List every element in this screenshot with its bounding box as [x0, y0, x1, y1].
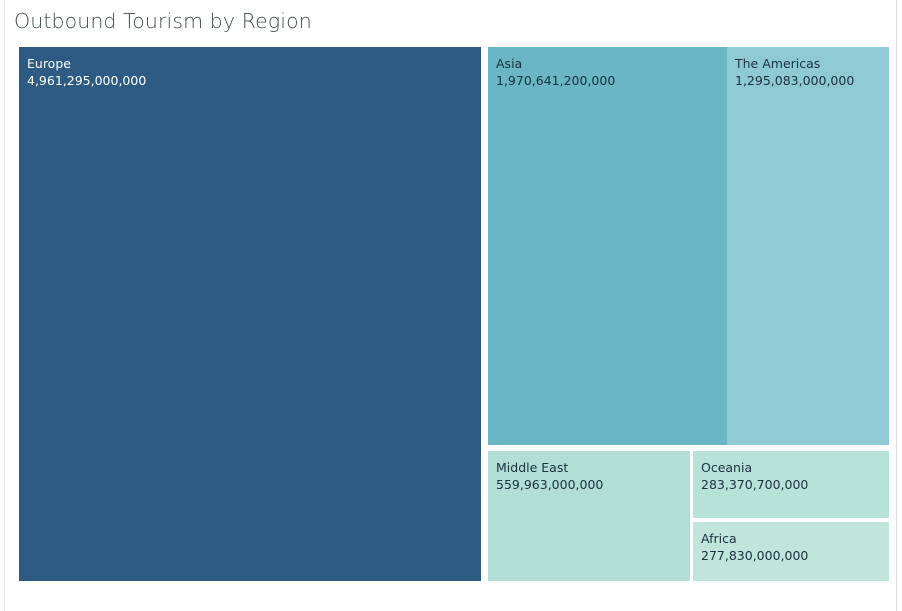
treemap-tile-label: Europe 4,961,295,000,000 — [27, 56, 477, 89]
treemap-tile-name: Oceania — [701, 460, 885, 477]
treemap-tile-value: 4,961,295,000,000 — [27, 73, 477, 90]
treemap-tile-middle-east[interactable]: Middle East 559,963,000,000 — [488, 451, 690, 581]
treemap-tile-label: Africa 277,830,000,000 — [701, 531, 885, 564]
treemap-tile-oceania[interactable]: Oceania 283,370,700,000 — [693, 451, 889, 518]
treemap-tile-label: The Americas 1,295,083,000,000 — [735, 56, 885, 89]
treemap-chart: Europe 4,961,295,000,000 Asia 1,970,641,… — [15, 47, 885, 581]
treemap-tile-europe[interactable]: Europe 4,961,295,000,000 — [19, 47, 481, 581]
treemap-tile-africa[interactable]: Africa 277,830,000,000 — [693, 522, 889, 581]
page-title: Outbound Tourism by Region — [14, 7, 312, 35]
visualization-card: Outbound Tourism by Region Europe 4,961,… — [4, 0, 897, 611]
treemap-tile-name: Asia — [496, 56, 723, 73]
treemap-tile-asia[interactable]: Asia 1,970,641,200,000 — [488, 47, 727, 445]
treemap-tile-name: Middle East — [496, 460, 686, 477]
treemap-tile-value: 277,830,000,000 — [701, 548, 885, 565]
treemap-tile-value: 559,963,000,000 — [496, 477, 686, 494]
treemap-tile-label: Asia 1,970,641,200,000 — [496, 56, 723, 89]
treemap-tile-name: Africa — [701, 531, 885, 548]
treemap-tile-value: 1,295,083,000,000 — [735, 73, 885, 90]
treemap-tile-the-americas[interactable]: The Americas 1,295,083,000,000 — [727, 47, 889, 445]
treemap-tile-name: The Americas — [735, 56, 885, 73]
treemap-tile-label: Middle East 559,963,000,000 — [496, 460, 686, 493]
treemap-tile-label: Oceania 283,370,700,000 — [701, 460, 885, 493]
treemap-tile-name: Europe — [27, 56, 477, 73]
treemap-tile-value: 1,970,641,200,000 — [496, 73, 723, 90]
treemap-tile-value: 283,370,700,000 — [701, 477, 885, 494]
